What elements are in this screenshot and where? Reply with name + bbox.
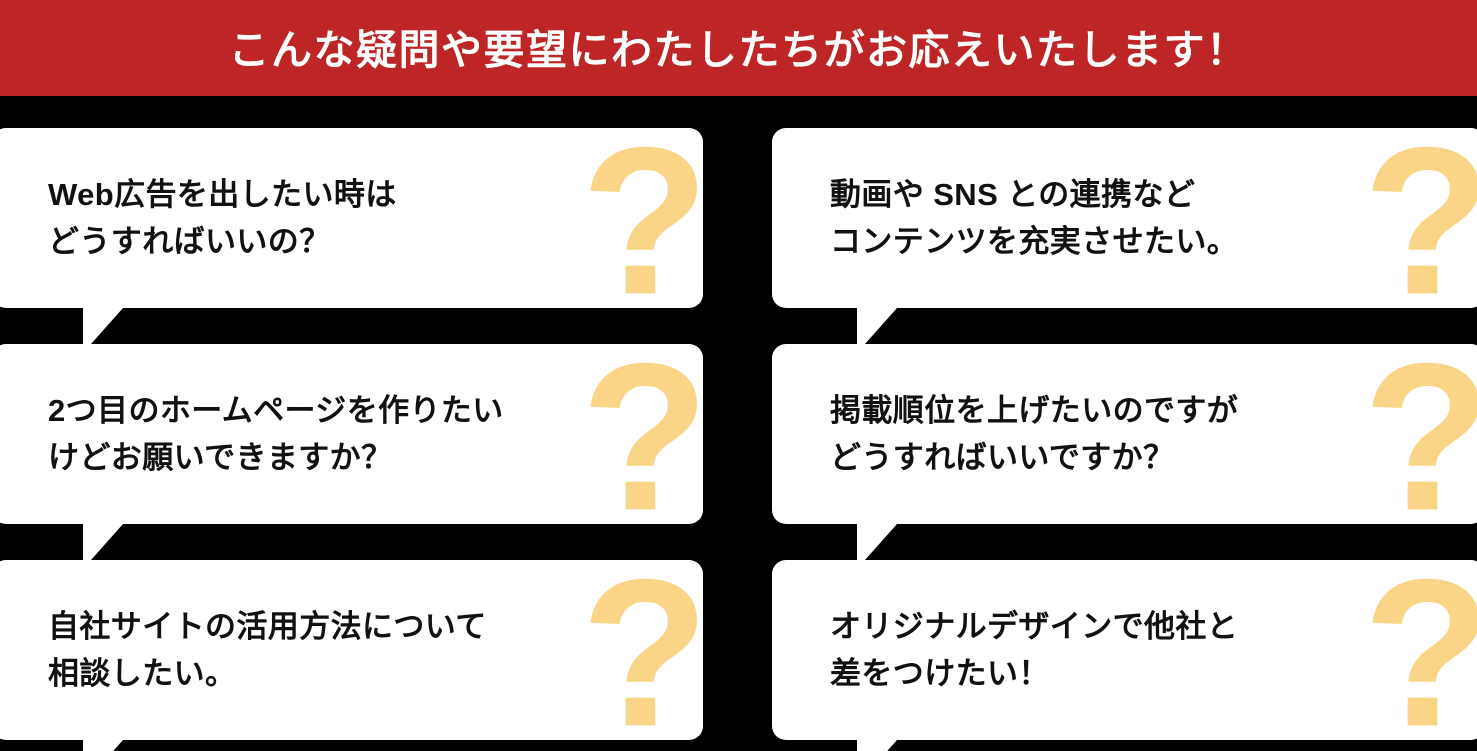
- speech-bubble-site-utilization[interactable]: ? 自社サイトの活用方法について 相談したい。: [0, 560, 703, 740]
- speech-bubble-original-design[interactable]: ? オリジナルデザインで他社と 差をつけたい！: [772, 560, 1477, 740]
- question-mark-icon: ?: [1363, 571, 1477, 735]
- question-mark-icon: ?: [581, 571, 703, 735]
- speech-bubble-web-ads[interactable]: ? Web広告を出したい時は どうすればいいの？: [0, 128, 703, 308]
- question-bubble-grid: ? Web広告を出したい時は どうすればいいの？ ? 動画や SNS との連携な…: [0, 96, 1477, 751]
- speech-bubble-text: Web広告を出したい時は どうすればいいの？: [48, 171, 397, 265]
- speech-bubble-text: オリジナルデザインで他社と 差をつけたい！: [830, 603, 1238, 697]
- question-mark-icon: ?: [1363, 139, 1477, 303]
- speech-bubble-second-homepage[interactable]: ? 2つ目のホームページを作りたい けどお願いできますか？: [0, 344, 703, 524]
- speech-bubble-video-sns[interactable]: ? 動画や SNS との連携など コンテンツを充実させたい。: [772, 128, 1477, 308]
- page-title: こんな疑問や要望にわたしたちがお応えいたします！: [229, 30, 1249, 71]
- speech-bubble-tail: [857, 740, 897, 751]
- speech-bubble-text: 2つ目のホームページを作りたい けどお願いできますか？: [48, 387, 504, 481]
- speech-bubble-text: 自社サイトの活用方法について 相談したい。: [48, 603, 487, 697]
- question-mark-icon: ?: [1363, 355, 1477, 519]
- speech-bubble-search-ranking[interactable]: ? 掲載順位を上げたいのですが どうすればいいですか？: [772, 344, 1477, 524]
- section-header-banner: こんな疑問や要望にわたしたちがお応えいたします！: [0, 0, 1477, 96]
- speech-bubble-tail: [83, 740, 123, 751]
- speech-bubble-text: 動画や SNS との連携など コンテンツを充実させたい。: [830, 171, 1238, 265]
- speech-bubble-text: 掲載順位を上げたいのですが どうすればいいですか？: [830, 387, 1238, 481]
- question-mark-icon: ?: [581, 355, 703, 519]
- promo-banner-section: こんな疑問や要望にわたしたちがお応えいたします！ ? Web広告を出したい時は …: [0, 0, 1477, 751]
- question-mark-icon: ?: [581, 139, 703, 303]
